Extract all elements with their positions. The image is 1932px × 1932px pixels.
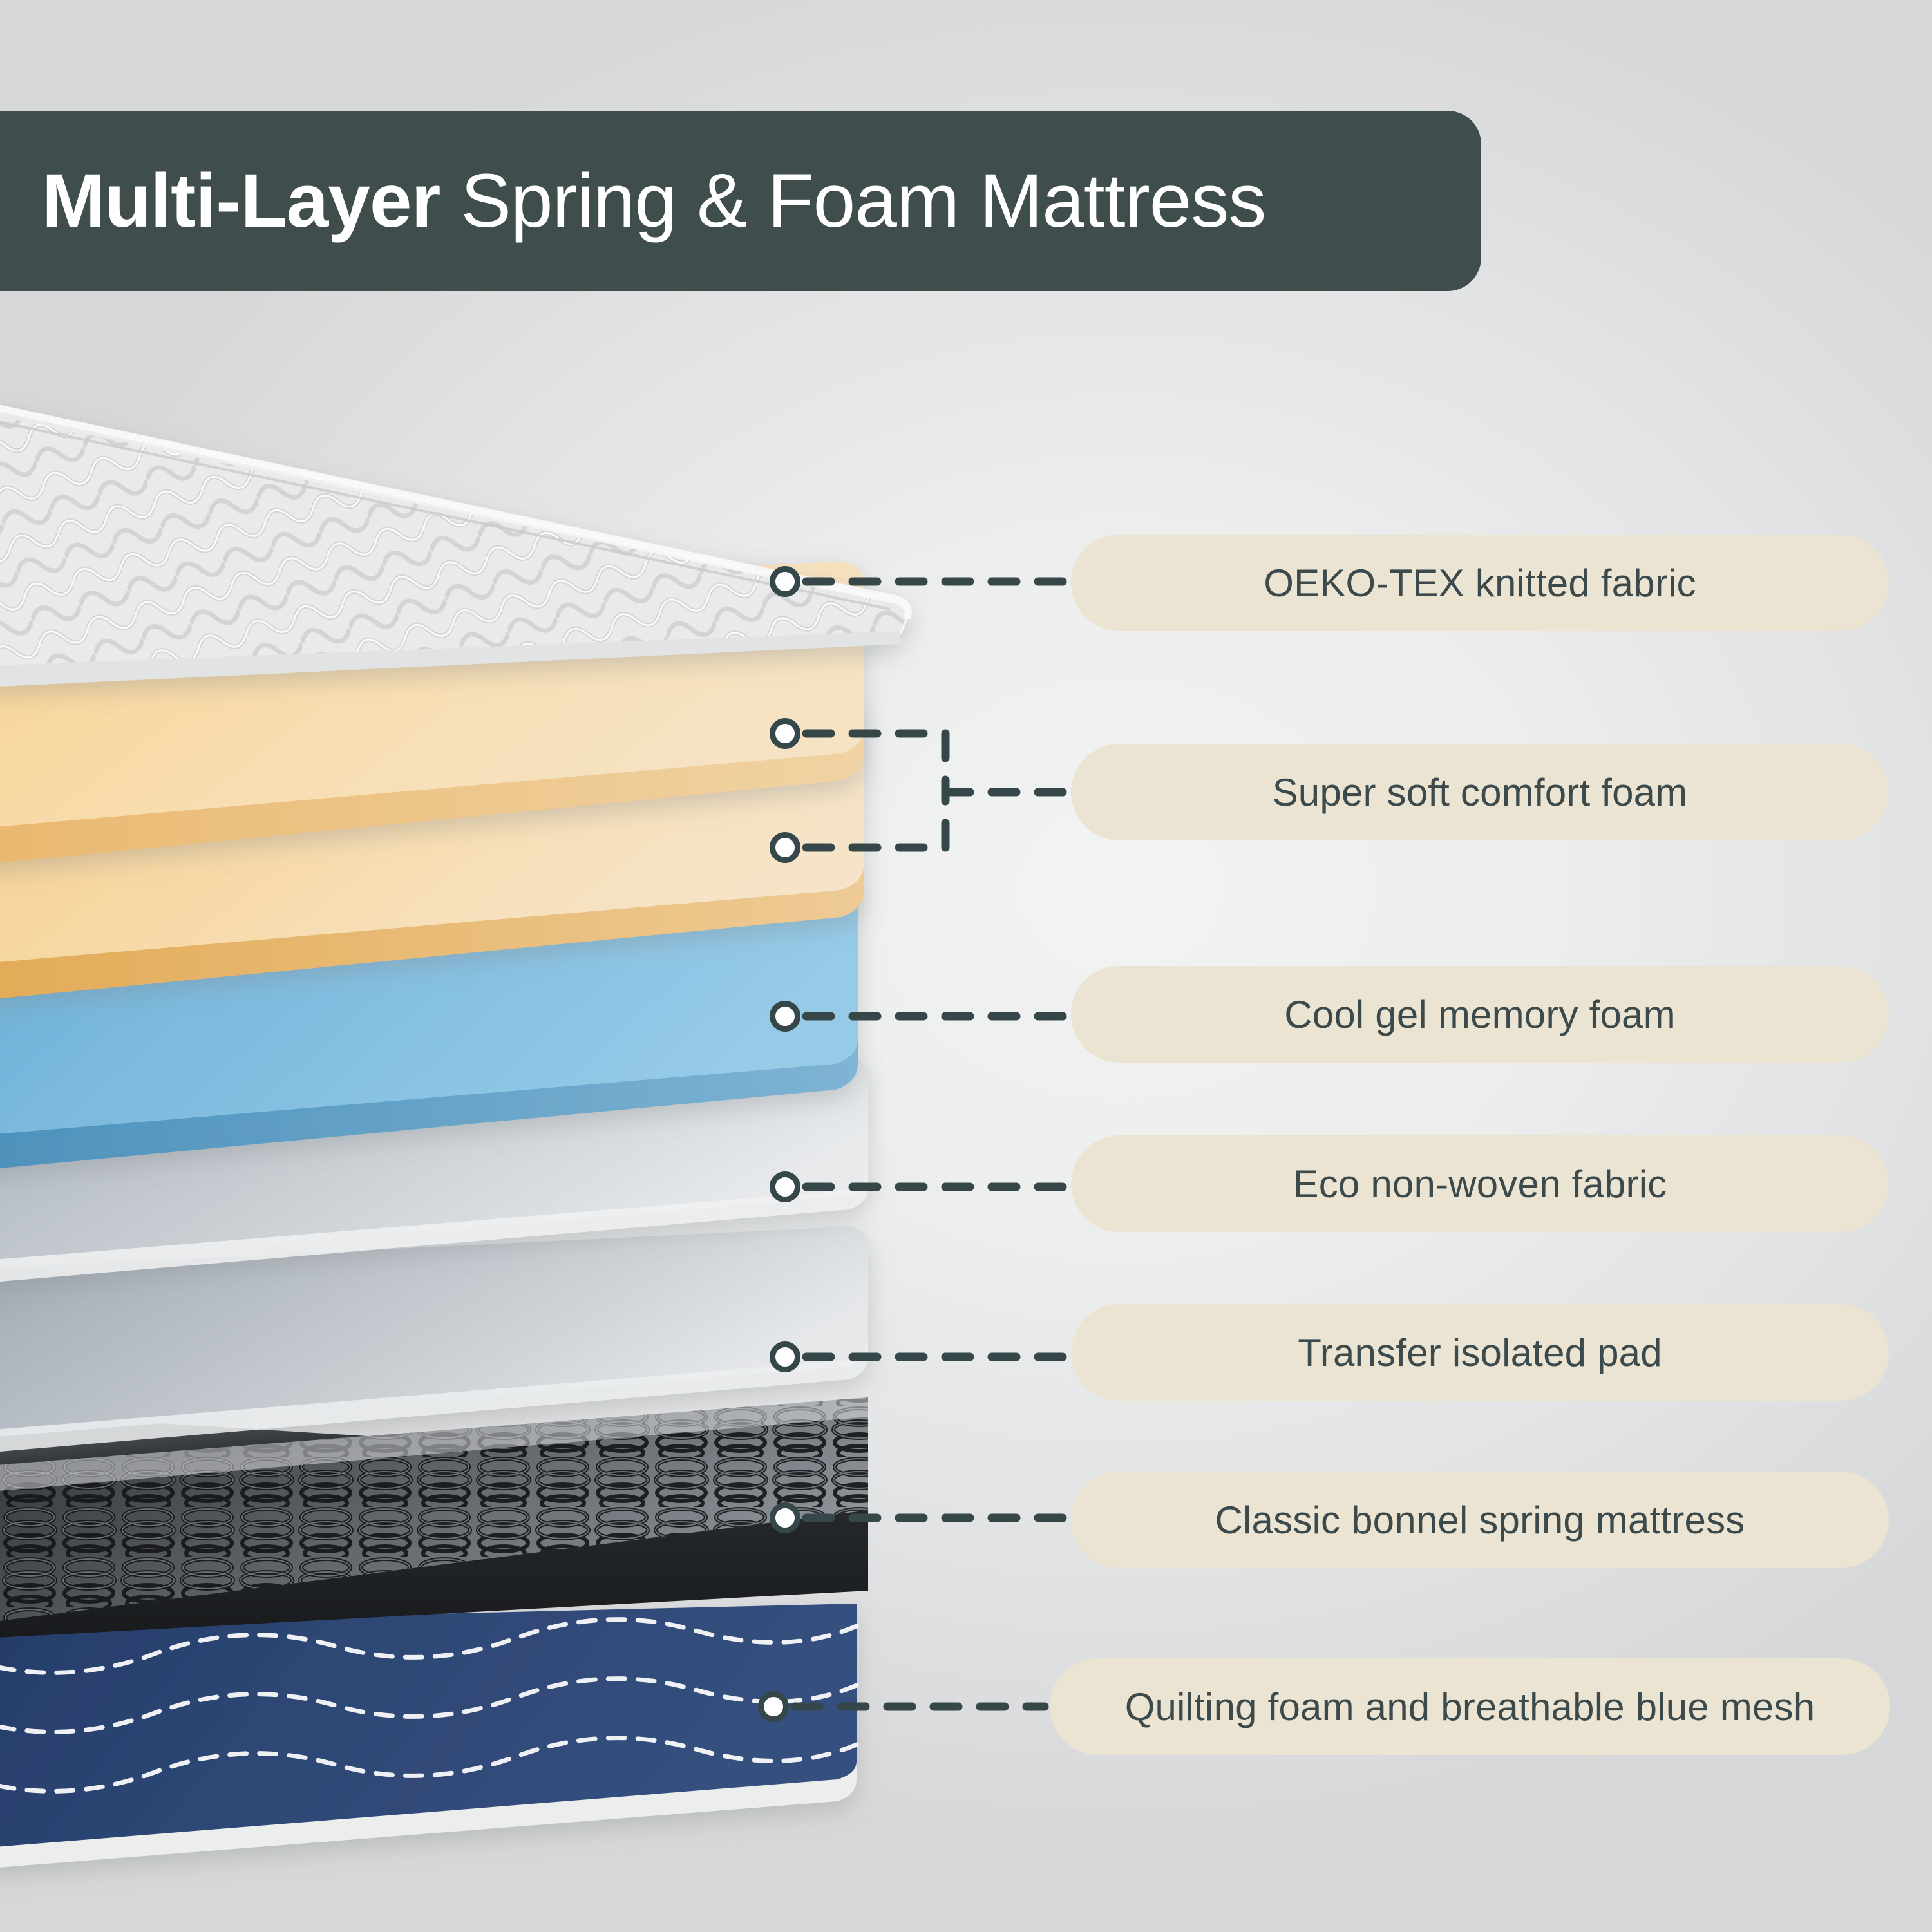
page-title: Multi-Layer Spring & Foam Mattress — [42, 163, 1265, 239]
callout-label-text: Cool gel memory foam — [1284, 992, 1676, 1037]
callout-label-quilting-foam-blue-mesh[interactable]: Quilting foam and breathable blue mesh — [1050, 1658, 1890, 1755]
callout-label-text: Eco non-woven fabric — [1293, 1162, 1667, 1206]
callout-dot-eco-non-woven[interactable] — [770, 1171, 800, 1202]
page-title-rest: Spring & Foam Mattress — [440, 158, 1265, 243]
title-banner: Multi-Layer Spring & Foam Mattress — [0, 111, 1481, 291]
callout-label-super-soft-comfort-foam[interactable]: Super soft comfort foam — [1071, 744, 1889, 840]
page-title-strong: Multi-Layer — [42, 158, 440, 243]
callout-label-text: Quilting foam and breathable blue mesh — [1125, 1685, 1815, 1729]
callout-label-transfer-isolated-pad[interactable]: Transfer isolated pad — [1071, 1304, 1889, 1401]
callout-label-eco-non-woven-fabric[interactable]: Eco non-woven fabric — [1071, 1135, 1889, 1232]
layer-oeko-tex-knitted-fabric — [0, 361, 909, 697]
callout-dot-comfort-foam-lower[interactable] — [770, 832, 800, 863]
callout-label-text: Transfer isolated pad — [1298, 1331, 1662, 1375]
callout-dot-bonnel-spring[interactable] — [770, 1502, 800, 1533]
callout-dot-comfort-foam-upper[interactable] — [770, 718, 800, 749]
callout-dot-quilting-foam[interactable] — [758, 1691, 789, 1722]
callout-label-cool-gel-memory-foam[interactable]: Cool gel memory foam — [1071, 966, 1889, 1063]
callout-dot-cool-gel[interactable] — [770, 1001, 800, 1032]
callout-label-text: OEKO-TEX knitted fabric — [1264, 561, 1696, 605]
callout-label-text: Super soft comfort foam — [1273, 770, 1688, 815]
callout-dot-oeko-tex[interactable] — [770, 566, 800, 597]
layer-quilting-foam-blue-mesh — [0, 1604, 857, 1884]
callout-dot-transfer-pad[interactable] — [770, 1341, 800, 1372]
callout-label-classic-bonnel-spring-mattress[interactable]: Classic bonnel spring mattress — [1071, 1472, 1889, 1568]
callout-label-oeko-tex[interactable]: OEKO-TEX knitted fabric — [1071, 535, 1889, 631]
callout-label-text: Classic bonnel spring mattress — [1215, 1498, 1745, 1542]
infographic-canvas: OEKO-TEX knitted fabric Super soft comfo… — [0, 0, 1932, 1932]
